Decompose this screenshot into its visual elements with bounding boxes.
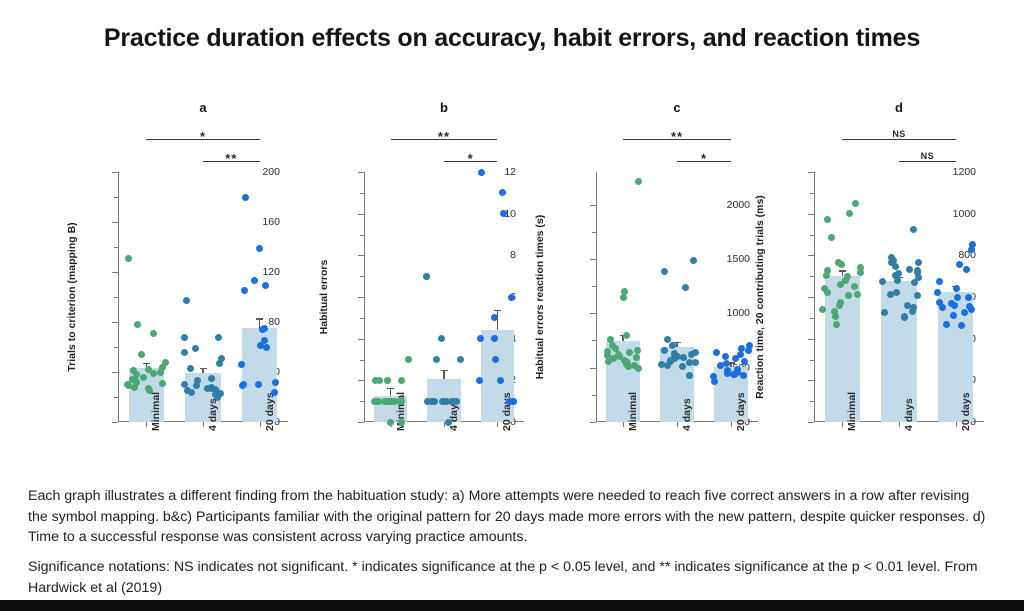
panel-b: b024681012Minimal4 days20 daysHabitual e…	[312, 100, 554, 480]
plot-area-c: 0500100015002000Minimal4 days20 days	[596, 172, 758, 422]
data-point	[936, 278, 943, 285]
y-tick-major	[590, 205, 596, 206]
data-point	[836, 302, 843, 309]
x-tick	[842, 422, 843, 427]
y-tick-minor	[592, 232, 596, 233]
x-tick	[497, 422, 498, 427]
data-point	[384, 377, 391, 384]
y-tick-major	[112, 222, 118, 223]
plot-area-d: 020040060080010001200Minimal4 days20 day…	[814, 172, 984, 422]
data-point	[723, 360, 730, 367]
data-point	[958, 322, 965, 329]
y-tick-label: 2000	[727, 199, 750, 211]
data-point	[740, 372, 747, 379]
data-point	[405, 356, 412, 363]
y-tick-major	[358, 255, 364, 256]
data-point	[664, 362, 671, 369]
x-axis-label-0: Minimal	[150, 392, 162, 431]
y-axis-title-a: Trials to criterion (mapping B)	[66, 172, 78, 422]
y-tick-major	[590, 313, 596, 314]
data-point	[241, 287, 248, 294]
data-point	[956, 261, 963, 268]
data-point	[216, 360, 223, 367]
y-tick-label: 200	[262, 166, 280, 178]
data-point	[620, 294, 627, 301]
data-point	[692, 359, 699, 366]
y-tick-label: 160	[262, 216, 280, 228]
data-point	[914, 292, 921, 299]
data-point	[732, 355, 739, 362]
data-point	[457, 356, 464, 363]
data-point	[125, 255, 132, 262]
y-tick-minor	[810, 360, 814, 361]
y-tick-major	[590, 259, 596, 260]
data-point	[443, 398, 450, 405]
data-point	[965, 294, 972, 301]
plot-area-a: 04080120160200Minimal4 days20 days	[118, 172, 288, 422]
y-tick-label: 12	[504, 166, 516, 178]
panel-letter-c: c	[596, 100, 758, 115]
figure-panels: a04080120160200Minimal4 days20 daysTrial…	[0, 100, 1024, 480]
y-tick-minor	[810, 235, 814, 236]
x-tick	[731, 422, 732, 427]
data-point	[682, 284, 689, 291]
data-point	[138, 351, 145, 358]
x-tick	[260, 422, 261, 427]
data-point	[181, 349, 188, 356]
data-point	[943, 321, 950, 328]
data-point	[824, 289, 831, 296]
y-tick-minor	[114, 297, 118, 298]
data-point	[828, 234, 835, 241]
data-point	[272, 379, 279, 386]
y-tick-major	[808, 172, 814, 173]
data-point	[713, 349, 720, 356]
significance-bracket-c-1: *	[677, 144, 731, 162]
y-tick-label: 8	[510, 249, 516, 261]
y-tick-major	[358, 297, 364, 298]
y-tick-minor	[592, 395, 596, 396]
x-tick	[203, 422, 204, 427]
y-tick-major	[808, 297, 814, 298]
data-point	[188, 389, 195, 396]
data-point	[833, 321, 840, 328]
data-point	[150, 370, 157, 377]
y-tick-minor	[810, 193, 814, 194]
data-point	[478, 169, 485, 176]
plot-area-b: 024681012Minimal4 days20 days	[364, 172, 524, 422]
panel-letter-b: b	[364, 100, 524, 115]
data-point	[150, 330, 157, 337]
y-tick-major	[808, 214, 814, 215]
panel-letter-a: a	[118, 100, 288, 115]
data-point	[846, 210, 853, 217]
data-point	[192, 345, 199, 352]
data-point	[894, 277, 901, 284]
y-axis-line	[118, 172, 119, 422]
x-axis-label-1: 4 days	[681, 398, 693, 431]
data-point	[911, 279, 918, 286]
data-point	[424, 398, 431, 405]
x-axis-label-1: 4 days	[207, 398, 219, 431]
y-tick-minor	[360, 276, 364, 277]
data-point	[187, 365, 194, 372]
bottom-edge-bar	[0, 600, 1024, 611]
y-tick-major	[358, 214, 364, 215]
data-point	[391, 398, 398, 405]
data-point	[661, 268, 668, 275]
y-tick-minor	[810, 318, 814, 319]
error-cap-b-1	[441, 370, 448, 371]
data-point	[661, 347, 668, 354]
data-point	[140, 374, 147, 381]
data-point	[906, 266, 913, 273]
error-cap-a-0	[143, 363, 150, 364]
x-tick	[956, 422, 957, 427]
error-cap-b-2	[494, 310, 501, 311]
y-tick-minor	[810, 401, 814, 402]
data-point	[262, 282, 269, 289]
data-point	[215, 334, 222, 341]
caption-paragraph-2: Significance notations: NS indicates not…	[28, 557, 988, 598]
y-tick-minor	[592, 286, 596, 287]
x-axis-label-0: Minimal	[627, 392, 639, 431]
data-point	[423, 273, 430, 280]
y-axis-title-b: Habitual errors	[318, 172, 330, 422]
data-point	[204, 385, 211, 392]
y-tick-minor	[360, 235, 364, 236]
significance-label: *	[146, 132, 259, 142]
data-point	[679, 363, 686, 370]
significance-label: *	[677, 154, 731, 164]
data-point	[271, 389, 278, 396]
y-tick-label: 120	[262, 266, 280, 278]
y-tick-major	[590, 368, 596, 369]
y-tick-major	[112, 422, 118, 423]
significance-label: **	[623, 132, 731, 142]
y-tick-minor	[360, 360, 364, 361]
y-axis-title-d: Reaction time, 20 contributing trials (m…	[754, 172, 766, 422]
significance-bracket-b-1: *	[444, 144, 497, 162]
data-point	[963, 266, 970, 273]
data-point	[438, 335, 445, 342]
data-point	[159, 380, 166, 387]
data-point	[939, 304, 946, 311]
data-point	[387, 419, 394, 426]
y-tick-major	[358, 422, 364, 423]
y-tick-major	[808, 339, 814, 340]
error-cap-a-2	[256, 318, 263, 319]
x-axis-label-1: 4 days	[903, 398, 915, 431]
y-axis-line	[814, 172, 815, 422]
data-point	[251, 277, 258, 284]
y-axis-title-c: Habitual errors reaction times (s)	[534, 172, 546, 422]
data-point	[625, 363, 632, 370]
error-cap-d-0	[839, 270, 846, 271]
y-tick-label: 1500	[727, 253, 750, 265]
data-point	[508, 294, 515, 301]
y-tick-label: 1000	[953, 208, 976, 220]
y-tick-minor	[114, 347, 118, 348]
data-point	[823, 272, 830, 279]
y-tick-major	[358, 339, 364, 340]
x-axis-label-2: 20 days	[960, 392, 972, 431]
significance-line	[842, 139, 955, 140]
data-point	[433, 356, 440, 363]
data-point	[398, 419, 405, 426]
y-tick-major	[112, 172, 118, 173]
significance-bracket-d-0: NS	[842, 122, 955, 140]
data-point	[450, 398, 457, 405]
data-point	[263, 344, 270, 351]
page-title: Practice duration effects on accuracy, h…	[0, 22, 1024, 54]
y-tick-major	[358, 172, 364, 173]
y-tick-minor	[592, 340, 596, 341]
data-point	[635, 178, 642, 185]
significance-bracket-d-1: NS	[899, 144, 956, 162]
y-tick-minor	[114, 397, 118, 398]
data-point	[181, 334, 188, 341]
data-point	[605, 358, 612, 365]
data-point	[852, 200, 859, 207]
data-point	[854, 291, 861, 298]
y-tick-major	[808, 380, 814, 381]
y-tick-label: 80	[268, 316, 280, 328]
error-bar-b-1	[443, 370, 445, 379]
y-tick-minor	[360, 318, 364, 319]
significance-label: **	[391, 132, 498, 142]
data-point	[838, 261, 845, 268]
data-point	[954, 294, 961, 301]
data-point	[857, 269, 864, 276]
significance-bracket-c-0: **	[623, 122, 731, 140]
x-tick	[677, 422, 678, 427]
data-point	[499, 189, 506, 196]
data-point	[950, 312, 957, 319]
y-tick-major	[358, 380, 364, 381]
data-point	[431, 398, 438, 405]
caption-paragraph-1: Each graph illustrates a different findi…	[28, 486, 988, 548]
error-cap-b-0	[387, 388, 394, 389]
y-tick-label: 1000	[727, 307, 750, 319]
panel-d: d020040060080010001200Minimal4 days20 da…	[748, 100, 1014, 480]
significance-bracket-b-0: **	[391, 122, 498, 140]
y-axis-line	[364, 172, 365, 422]
y-axis-line	[596, 172, 597, 422]
y-tick-minor	[810, 276, 814, 277]
panel-a: a04080120160200Minimal4 days20 daysTrial…	[60, 100, 318, 480]
y-tick-minor	[360, 193, 364, 194]
data-point	[730, 371, 737, 378]
data-point	[824, 216, 831, 223]
error-cap-a-1	[200, 368, 207, 369]
y-tick-major	[808, 255, 814, 256]
x-tick	[146, 422, 147, 427]
data-point	[398, 377, 405, 384]
data-point	[256, 245, 263, 252]
data-point	[690, 257, 697, 264]
x-tick	[623, 422, 624, 427]
data-point	[910, 226, 917, 233]
x-axis-label-0: Minimal	[846, 392, 858, 431]
data-point	[915, 259, 922, 266]
y-tick-major	[808, 422, 814, 423]
x-axis-label-2: 20 days	[735, 392, 747, 431]
data-point	[383, 398, 390, 405]
data-point	[183, 297, 190, 304]
significance-bracket-a-1: **	[203, 144, 260, 162]
y-tick-minor	[360, 401, 364, 402]
y-tick-minor	[114, 197, 118, 198]
data-point	[688, 351, 695, 358]
data-point	[134, 321, 141, 328]
y-tick-minor	[114, 247, 118, 248]
panel-letter-d: d	[814, 100, 984, 115]
significance-label: **	[203, 154, 260, 164]
data-point	[398, 398, 405, 405]
significance-line	[899, 161, 956, 162]
data-point	[711, 378, 718, 385]
data-point	[510, 398, 517, 405]
data-point	[634, 347, 641, 354]
data-point	[626, 349, 633, 356]
x-tick	[899, 422, 900, 427]
significance-bracket-a-0: *	[146, 122, 259, 140]
data-point	[968, 306, 975, 313]
y-tick-major	[112, 322, 118, 323]
data-point	[238, 361, 245, 368]
data-point	[623, 332, 630, 339]
significance-label: NS	[842, 129, 955, 139]
significance-label: NS	[899, 151, 956, 161]
y-tick-label: 1200	[953, 166, 976, 178]
y-tick-major	[112, 272, 118, 273]
data-point	[635, 365, 642, 372]
y-tick-major	[112, 372, 118, 373]
significance-label: *	[444, 154, 497, 164]
data-point	[157, 369, 164, 376]
x-axis-label-2: 20 days	[264, 392, 276, 431]
data-point	[242, 194, 249, 201]
data-point	[445, 419, 452, 426]
y-tick-major	[590, 422, 596, 423]
